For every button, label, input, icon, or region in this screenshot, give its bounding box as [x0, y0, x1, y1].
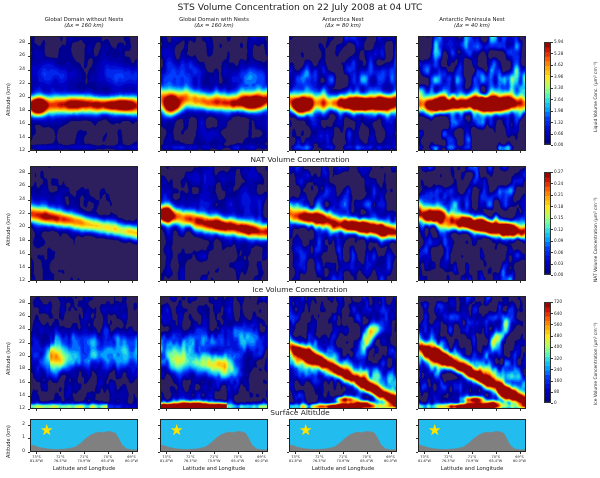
panel-sts-col2 [160, 36, 268, 151]
y-tick-mark [28, 425, 30, 426]
y-tick-mark [28, 124, 30, 125]
y-tick-mark [28, 369, 30, 370]
y-tick-mark [28, 382, 30, 383]
colorbar-tick-mark [551, 53, 553, 54]
panel-nat-col3 [289, 166, 397, 281]
y-tick-mark [158, 409, 160, 410]
colorbar-tick-mark [551, 403, 553, 404]
y-tick-mark [158, 97, 160, 98]
x-tick-mark [166, 151, 167, 153]
y-tick-mark [158, 240, 160, 241]
x-tick-lon: 60.0°W [507, 459, 533, 463]
x-tick-mark [367, 281, 368, 283]
heatmap-canvas [31, 297, 137, 408]
x-tick-mark [190, 151, 191, 153]
x-tick-lon: 76.3°W [177, 459, 203, 463]
x-tick-mark [343, 409, 344, 411]
x-tick-label: 73°S81.8°W [282, 455, 308, 463]
y-tick-mark [416, 83, 418, 84]
y-tick-mark [416, 173, 418, 174]
x-axis-label-col3: Latitude and Longitude [289, 466, 397, 472]
x-tick-label: 72°S76.3°W [47, 455, 73, 463]
x-tick-mark [520, 409, 521, 411]
x-tick-mark [190, 409, 191, 411]
y-tick-mark [287, 396, 289, 397]
x-tick-mark [262, 151, 263, 153]
colorbar-tick-mark [551, 183, 553, 184]
x-tick-mark [496, 409, 497, 411]
colorbar-tick-label: 0.06 [554, 250, 563, 255]
x-tick-lon: 65.4°W [225, 459, 251, 463]
x-tick-mark [319, 452, 320, 454]
x-tick-mark [424, 151, 425, 153]
x-tick-mark [132, 151, 133, 153]
x-tick-label: 73°S81.8°W [23, 455, 49, 463]
column-title-1: Global Domain without Nests(Δx = 160 km) [30, 17, 138, 30]
x-tick-lon: 70.9°W [71, 459, 97, 463]
x-tick-mark [448, 151, 449, 153]
station-star-icon: ★ [40, 423, 53, 438]
x-tick-mark [60, 452, 61, 454]
y-tick-mark [416, 254, 418, 255]
heatmap-canvas [161, 167, 267, 280]
colorbar-sts [544, 42, 551, 145]
x-tick-mark [496, 151, 497, 153]
y-tick-label: 14 [12, 135, 25, 140]
y-tick-mark [158, 396, 160, 397]
y-tick-label: 28 [12, 170, 25, 175]
x-tick-mark [84, 452, 85, 454]
y-tick-mark [158, 227, 160, 228]
colorbar-tick-label: 0.15 [554, 215, 563, 220]
y-tick-mark [158, 316, 160, 317]
y-tick-mark [287, 110, 289, 111]
y-tick-mark [416, 240, 418, 241]
y-tick-mark [287, 409, 289, 410]
x-tick-mark [472, 452, 473, 454]
x-tick-lon: 76.3°W [435, 459, 461, 463]
colorbar-tick-mark [551, 241, 553, 242]
x-tick-mark [132, 409, 133, 411]
x-tick-label: 73°S81.8°W [411, 455, 437, 463]
y-tick-mark [28, 110, 30, 111]
colorbar-tick-label: 0.00 [554, 272, 563, 277]
heatmap-canvas [290, 297, 396, 408]
y-tick-mark [416, 369, 418, 370]
y-tick-mark [28, 56, 30, 57]
colorbar-tick-mark [551, 99, 553, 100]
colorbar-tick-label: 3.30 [554, 85, 563, 90]
y-tick-mark [287, 281, 289, 282]
y-tick-label: 24 [12, 67, 25, 72]
x-tick-lon: 81.8°W [23, 459, 49, 463]
colorbar-tick-mark [551, 76, 553, 77]
y-tick-mark [158, 438, 160, 439]
x-tick-mark [132, 452, 133, 454]
x-tick-mark [190, 281, 191, 283]
x-tick-mark [60, 409, 61, 411]
y-tick-mark [28, 83, 30, 84]
colorbar-tick-mark [551, 88, 553, 89]
y-tick-mark [158, 200, 160, 201]
y-tick-mark [28, 267, 30, 268]
y-tick-mark [28, 316, 30, 317]
colorbar-tick-mark [551, 134, 553, 135]
colorbar-tick-label: 320 [554, 356, 562, 361]
x-tick-mark [36, 452, 37, 454]
y-tick-label: 20 [12, 224, 25, 229]
heatmap-canvas [161, 37, 267, 150]
y-tick-label: 0 [12, 449, 25, 454]
y-tick-mark [416, 438, 418, 439]
y-tick-mark [158, 110, 160, 111]
y-tick-mark [287, 329, 289, 330]
heatmap-canvas [419, 167, 525, 280]
x-tick-mark [238, 409, 239, 411]
y-tick-mark [28, 200, 30, 201]
x-tick-mark [367, 151, 368, 153]
x-tick-mark [520, 281, 521, 283]
x-tick-mark [238, 452, 239, 454]
x-tick-mark [214, 409, 215, 411]
y-tick-mark [28, 151, 30, 152]
panel-nat-col1 [30, 166, 138, 281]
y-tick-mark [287, 369, 289, 370]
colorbar-tick-mark [551, 313, 553, 314]
x-tick-mark [367, 409, 368, 411]
x-tick-mark [448, 409, 449, 411]
y-tick-mark [416, 124, 418, 125]
x-tick-mark [343, 452, 344, 454]
x-tick-mark [84, 281, 85, 283]
x-tick-lon: 70.9°W [330, 459, 356, 463]
x-tick-mark [60, 151, 61, 153]
y-tick-mark [287, 316, 289, 317]
x-tick-label: 71°S70.9°W [330, 455, 356, 463]
y-tick-mark [416, 110, 418, 111]
colorbar-tick-label: 400 [554, 344, 562, 349]
x-tick-lon: 76.3°W [306, 459, 332, 463]
x-tick-lon: 60.0°W [119, 459, 145, 463]
y-tick-mark [416, 303, 418, 304]
y-tick-mark [158, 452, 160, 453]
figure-title: STS Volume Concentration on 22 July 2008… [0, 2, 600, 13]
colorbar-tick-label: 0.18 [554, 204, 563, 209]
colorbar-tick-label: 0.03 [554, 261, 563, 266]
x-tick-label: 72°S76.3°W [306, 455, 332, 463]
colorbar-tick-label: 720 [554, 299, 562, 304]
x-tick-mark [36, 151, 37, 153]
x-tick-mark [319, 409, 320, 411]
colorbar-tick-label: 4.62 [554, 62, 563, 67]
y-tick-mark [28, 303, 30, 304]
x-tick-mark [472, 409, 473, 411]
y-tick-mark [287, 227, 289, 228]
y-tick-mark [158, 281, 160, 282]
y-tick-mark [416, 329, 418, 330]
y-tick-mark [287, 343, 289, 344]
y-tick-mark [158, 70, 160, 71]
colorbar-tick-label: 0.12 [554, 227, 563, 232]
colorbar-tick-label: 80 [554, 389, 559, 394]
station-star-icon: ★ [299, 423, 312, 438]
x-tick-mark [520, 151, 521, 153]
column-resolution: (Δx = 40 km) [418, 23, 526, 29]
heatmap-canvas [419, 37, 525, 150]
y-tick-mark [28, 97, 30, 98]
y-tick-mark [158, 137, 160, 138]
x-tick-mark [424, 452, 425, 454]
colorbar-tick-label: 480 [554, 333, 562, 338]
x-tick-mark [343, 151, 344, 153]
y-tick-mark [158, 186, 160, 187]
heatmap-canvas [31, 37, 137, 150]
x-tick-mark [472, 281, 473, 283]
x-tick-lon: 65.4°W [354, 459, 380, 463]
column-resolution: (Δx = 80 km) [289, 23, 397, 29]
x-tick-label: 69°S60.0°W [119, 455, 145, 463]
panel-ice-col3 [289, 296, 397, 409]
y-tick-mark [416, 452, 418, 453]
x-axis-label-col1: Latitude and Longitude [30, 466, 138, 472]
y-tick-mark [158, 369, 160, 370]
colorbar-tick-mark [551, 42, 553, 43]
y-tick-mark [158, 382, 160, 383]
y-tick-mark [416, 409, 418, 410]
colorbar-tick-mark [551, 145, 553, 146]
y-tick-mark [28, 343, 30, 344]
y-tick-mark [287, 425, 289, 426]
colorbar-tick-label: 5.28 [554, 51, 563, 56]
x-tick-mark [295, 281, 296, 283]
y-tick-mark [416, 356, 418, 357]
x-tick-lon: 81.8°W [153, 459, 179, 463]
y-tick-mark [28, 240, 30, 241]
y-tick-mark [416, 137, 418, 138]
y-tick-mark [28, 281, 30, 282]
y-tick-label: 12 [12, 278, 25, 283]
heatmap-canvas [419, 297, 525, 408]
x-tick-mark [391, 151, 392, 153]
x-tick-lon: 76.3°W [47, 459, 73, 463]
panel-nat-col4 [418, 166, 526, 281]
colorbar-tick-label: 1.32 [554, 120, 563, 125]
colorbar-tick-mark [551, 347, 553, 348]
row-title-3: Ice Volume Concentration [0, 285, 600, 294]
x-tick-lon: 65.4°W [483, 459, 509, 463]
y-tick-mark [416, 267, 418, 268]
x-tick-mark [132, 281, 133, 283]
y-tick-mark [287, 173, 289, 174]
panel-sts-col4 [418, 36, 526, 151]
x-tick-mark [108, 281, 109, 283]
row-title-4: Surface Altitude [0, 408, 600, 417]
y-tick-mark [416, 56, 418, 57]
y-tick-label: 14 [12, 393, 25, 398]
y-tick-mark [287, 303, 289, 304]
y-tick-mark [287, 267, 289, 268]
x-tick-mark [496, 452, 497, 454]
colorbar-tick-mark [551, 65, 553, 66]
y-tick-mark [416, 213, 418, 214]
x-tick-mark [391, 409, 392, 411]
y-tick-mark [28, 227, 30, 228]
colorbar-tick-mark [551, 381, 553, 382]
y-tick-mark [287, 240, 289, 241]
x-tick-mark [166, 281, 167, 283]
x-tick-label: 73°S81.8°W [153, 455, 179, 463]
x-tick-mark [472, 151, 473, 153]
y-tick-mark [158, 83, 160, 84]
colorbar-nat [544, 172, 551, 275]
colorbar-gradient [545, 43, 550, 144]
colorbar-tick-label: 0.00 [554, 142, 563, 147]
colorbar-label-nat: NAT Volume Concentration (µm³ cm⁻³) [594, 197, 599, 282]
y-tick-label: 16 [12, 380, 25, 385]
y-tick-mark [158, 43, 160, 44]
y-tick-mark [287, 83, 289, 84]
heatmap-canvas [31, 167, 137, 280]
y-tick-mark [416, 425, 418, 426]
x-tick-label: 71°S70.9°W [201, 455, 227, 463]
y-tick-mark [158, 151, 160, 152]
y-tick-mark [158, 56, 160, 57]
heatmap-canvas [290, 167, 396, 280]
colorbar-tick-label: 560 [554, 322, 562, 327]
colorbar-gradient [545, 173, 550, 274]
y-tick-mark [416, 281, 418, 282]
x-axis-label-col4: Latitude and Longitude [418, 466, 526, 472]
y-tick-mark [28, 329, 30, 330]
x-tick-lon: 60.0°W [378, 459, 404, 463]
y-tick-label: 26 [12, 183, 25, 188]
y-tick-label: 24 [12, 197, 25, 202]
x-tick-label: 69°S60.0°W [249, 455, 275, 463]
x-tick-mark [190, 452, 191, 454]
x-tick-label: 70°S65.4°W [95, 455, 121, 463]
y-tick-mark [28, 137, 30, 138]
y-tick-mark [287, 438, 289, 439]
x-tick-mark [262, 409, 263, 411]
y-tick-label: 26 [12, 313, 25, 318]
colorbar-tick-mark [551, 111, 553, 112]
x-tick-mark [108, 151, 109, 153]
y-tick-mark [416, 396, 418, 397]
y-tick-mark [287, 137, 289, 138]
colorbar-tick-mark [551, 264, 553, 265]
x-tick-mark [214, 452, 215, 454]
y-tick-mark [158, 343, 160, 344]
x-tick-mark [238, 281, 239, 283]
colorbar-tick-mark [551, 218, 553, 219]
y-tick-label: 20 [12, 94, 25, 99]
panel-sts-col1 [30, 36, 138, 151]
x-tick-mark [262, 452, 263, 454]
colorbar-tick-label: 0.21 [554, 192, 563, 197]
x-tick-label: 69°S60.0°W [378, 455, 404, 463]
x-tick-mark [166, 409, 167, 411]
y-tick-mark [28, 70, 30, 71]
colorbar-tick-mark [551, 392, 553, 393]
x-tick-label: 71°S70.9°W [71, 455, 97, 463]
y-tick-mark [28, 396, 30, 397]
y-tick-mark [287, 151, 289, 152]
y-tick-label: 2 [12, 422, 25, 427]
y-tick-mark [28, 254, 30, 255]
colorbar-tick-label: 240 [554, 367, 562, 372]
y-tick-mark [287, 382, 289, 383]
x-tick-mark [319, 281, 320, 283]
x-tick-label: 71°S70.9°W [459, 455, 485, 463]
y-tick-label: 16 [12, 121, 25, 126]
colorbar-tick-mark [551, 275, 553, 276]
colorbar-tick-mark [551, 358, 553, 359]
y-tick-mark [416, 186, 418, 187]
x-tick-mark [108, 452, 109, 454]
y-tick-mark [158, 173, 160, 174]
y-tick-mark [416, 151, 418, 152]
y-tick-mark [28, 43, 30, 44]
x-tick-mark [214, 151, 215, 153]
colorbar-tick-mark [551, 172, 553, 173]
y-tick-mark [416, 227, 418, 228]
colorbar-tick-label: 0 [554, 400, 557, 405]
x-tick-mark [319, 151, 320, 153]
y-tick-label: 18 [12, 366, 25, 371]
y-tick-mark [416, 200, 418, 201]
x-tick-mark [520, 452, 521, 454]
y-tick-mark [287, 200, 289, 201]
y-tick-mark [158, 303, 160, 304]
y-tick-label: 20 [12, 353, 25, 358]
y-tick-mark [28, 213, 30, 214]
column-title-3: Antarctica Nest(Δx = 80 km) [289, 17, 397, 30]
panel-ice-col4 [418, 296, 526, 409]
panel-sts-col3 [289, 36, 397, 151]
colorbar-tick-label: 640 [554, 311, 562, 316]
x-tick-mark [262, 281, 263, 283]
column-title-2: Global Domain with Nests(Δx = 160 km) [160, 17, 268, 30]
panel-nat-col2 [160, 166, 268, 281]
y-tick-mark [158, 329, 160, 330]
y-tick-mark [416, 97, 418, 98]
y-tick-label: 28 [12, 300, 25, 305]
colorbar-tick-label: 1.98 [554, 108, 563, 113]
colorbar-tick-mark [551, 369, 553, 370]
x-tick-mark [391, 452, 392, 454]
y-tick-mark [287, 186, 289, 187]
x-tick-mark [166, 452, 167, 454]
colorbar-tick-label: 0.09 [554, 238, 563, 243]
x-tick-mark [448, 281, 449, 283]
x-tick-mark [424, 409, 425, 411]
y-tick-label: 22 [12, 340, 25, 345]
y-tick-mark [287, 254, 289, 255]
colorbar-tick-mark [551, 324, 553, 325]
x-tick-mark [343, 281, 344, 283]
y-tick-mark [158, 267, 160, 268]
y-tick-label: 18 [12, 238, 25, 243]
y-tick-mark [287, 124, 289, 125]
x-tick-lon: 81.8°W [282, 459, 308, 463]
y-tick-mark [28, 186, 30, 187]
x-tick-mark [295, 452, 296, 454]
figure-canvas: STS Volume Concentration on 22 July 2008… [0, 0, 600, 478]
y-tick-mark [158, 124, 160, 125]
row-title-2: NAT Volume Concentration [0, 155, 600, 164]
x-tick-label: 70°S65.4°W [483, 455, 509, 463]
x-tick-mark [238, 151, 239, 153]
